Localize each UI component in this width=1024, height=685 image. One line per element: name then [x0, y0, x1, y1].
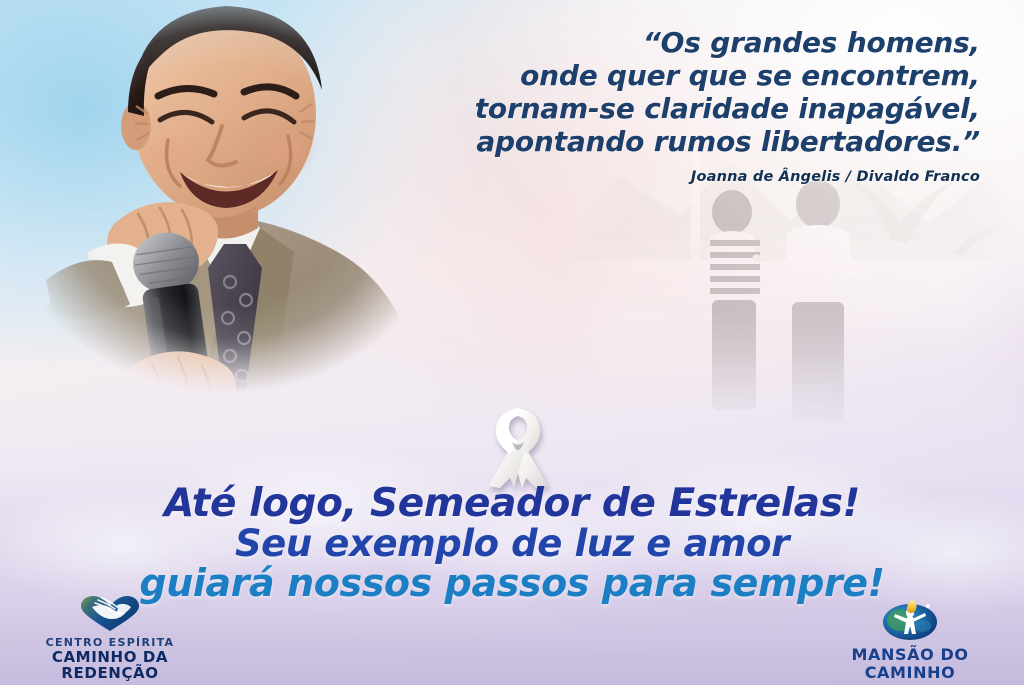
logo-right-line-2: MANSÃO DO CAMINHO [804, 646, 1016, 681]
headline-block: Até logo, Semeador de Estrelas! Seu exem… [0, 484, 1024, 603]
quote-line-3: tornam-se claridade inapagável, [340, 92, 980, 125]
logo-left-text: CENTRO ESPÍRITA CAMINHO DA REDENÇÃO [10, 637, 210, 681]
logo-left-line-1: CENTRO ESPÍRITA [10, 637, 210, 649]
logo-centro-espirita-caminho-da-redencao[interactable]: CENTRO ESPÍRITA CAMINHO DA REDENÇÃO [10, 596, 210, 681]
globe-with-figure-and-flame-icon [881, 597, 939, 646]
quote-credit: Joanna de Ângelis / Divaldo Franco [340, 169, 980, 185]
headline-line-1: Até logo, Semeador de Estrelas! [0, 484, 1024, 524]
quote-block: “Os grandes homens, onde quer que se enc… [340, 26, 980, 185]
headline-line-2: Seu exemplo de luz e amor [0, 524, 1024, 563]
logo-right-text: MANSÃO DO CAMINHO [804, 646, 1016, 681]
quote-line-4: apontando rumos libertadores.” [340, 125, 980, 158]
heart-with-hands-icon [79, 596, 141, 637]
quote-line-2: onde quer que se encontrem, [340, 59, 980, 92]
poster-canvas: “Os grandes homens, onde quer que se enc… [0, 0, 1024, 685]
logo-left-line-2: CAMINHO DA REDENÇÃO [10, 649, 210, 681]
quote-line-1: “Os grandes homens, [340, 26, 980, 59]
white-mourning-ribbon-icon [482, 404, 554, 490]
logo-mansao-do-caminho[interactable]: MANSÃO DO CAMINHO [804, 597, 1016, 681]
